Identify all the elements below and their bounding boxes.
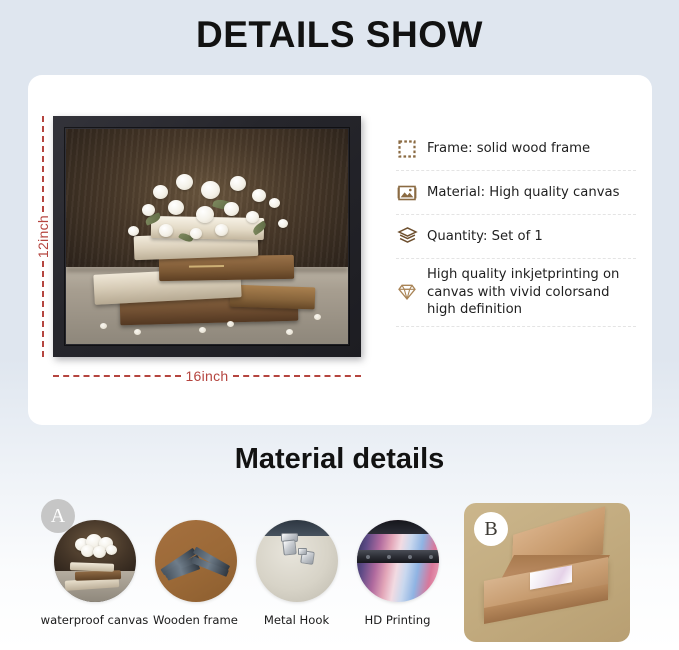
canvas-art-swatch — [54, 520, 136, 602]
wooden-frame-swatch — [155, 520, 237, 602]
page-title: DETAILS SHOW — [0, 14, 679, 56]
painted-blossom — [159, 224, 173, 237]
width-dimension: 16inch — [53, 366, 361, 386]
painted-blossom — [215, 224, 228, 236]
framed-artwork — [53, 116, 361, 357]
painted-book — [159, 255, 295, 281]
metal-hook-swatch — [256, 520, 338, 602]
painted-blossom — [190, 228, 202, 239]
painted-blossom — [224, 202, 239, 216]
painted-blossom — [269, 198, 280, 208]
wood-frame — [53, 116, 361, 357]
swatch-book — [75, 570, 121, 581]
height-dimension: 12inch — [32, 116, 54, 357]
printer-bolt — [366, 555, 370, 559]
hook-piece — [298, 548, 307, 555]
painted-blossom — [176, 174, 193, 190]
width-dimension-label: 16inch — [181, 368, 232, 384]
fallen-petal — [100, 323, 107, 329]
spec-text-material: Material: High quality canvas — [427, 184, 619, 202]
dimension-dash-line — [53, 375, 181, 377]
fallen-petal — [199, 327, 206, 333]
badge-b: B — [474, 512, 508, 546]
fallen-petal — [227, 321, 234, 327]
painted-book — [229, 284, 314, 308]
painted-blossom — [278, 219, 288, 228]
dimension-dash-line — [42, 261, 44, 357]
crop-frame-icon — [396, 138, 418, 160]
layers-stack-icon — [396, 226, 418, 248]
painted-blossom — [201, 181, 220, 199]
image-picture-icon — [396, 182, 418, 204]
spec-row-quantity: Quantity: Set of 1 — [396, 215, 636, 259]
spec-row-frame: Frame: solid wood frame — [396, 127, 636, 171]
dimension-dash-line — [233, 375, 361, 377]
hook-piece — [282, 539, 296, 555]
material-caption-canvas: waterproof canvas — [41, 613, 149, 627]
hd-printing-swatch — [357, 520, 439, 602]
painted-blossom — [168, 200, 184, 215]
printer-bolt — [408, 555, 412, 559]
printer-bolt — [429, 555, 433, 559]
material-caption-hd-printing: HD Printing — [365, 613, 431, 627]
details-card: 12inch 16inch Frame: solid wood frame — [28, 75, 652, 425]
spec-text-frame: Frame: solid wood frame — [427, 140, 590, 158]
spec-text-quantity: Quantity: Set of 1 — [427, 228, 543, 246]
material-section-title: Material details — [0, 443, 679, 476]
swatch-blossom — [106, 545, 117, 555]
swatch-blossom — [81, 545, 94, 557]
spec-row-printing: High quality inkjetprinting on canvas wi… — [396, 259, 636, 327]
printer-head-bar — [357, 550, 439, 564]
canvas-artwork — [66, 129, 348, 344]
spec-row-material: Material: High quality canvas — [396, 171, 636, 215]
material-swatch-row: waterproof canvas Wooden frame Metal Hoo… — [44, 520, 448, 627]
badge-a: A — [41, 499, 75, 533]
material-item-wooden-frame: Wooden frame — [145, 520, 246, 627]
material-caption-metal-hook: Metal Hook — [264, 613, 329, 627]
material-item-metal-hook: Metal Hook — [246, 520, 347, 627]
specification-list: Frame: solid wood frame Material: High q… — [396, 127, 636, 327]
printer-bolt — [387, 555, 391, 559]
height-dimension-label: 12inch — [35, 212, 51, 261]
material-item-canvas: waterproof canvas — [44, 520, 145, 627]
material-caption-wooden-frame: Wooden frame — [153, 613, 238, 627]
painted-blossom — [128, 226, 139, 236]
diamond-gem-icon — [396, 281, 418, 303]
spec-text-printing: High quality inkjetprinting on canvas wi… — [427, 266, 636, 319]
painted-blossom — [230, 176, 246, 191]
material-item-hd-printing: HD Printing — [347, 520, 448, 627]
dimension-dash-line — [42, 116, 44, 212]
